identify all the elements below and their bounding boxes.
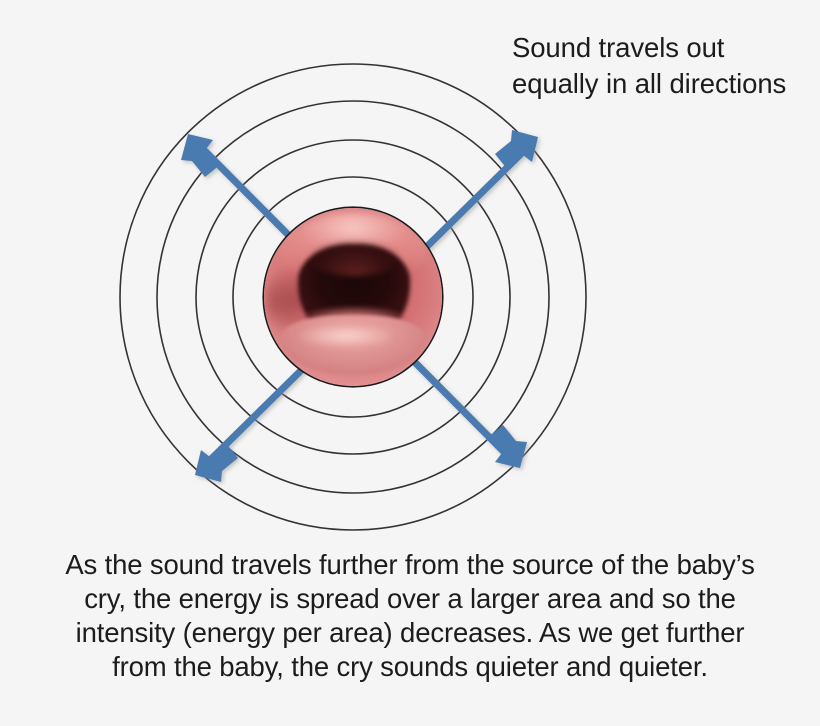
- sound-direction-caption-line-2: equally in all directions: [512, 66, 812, 102]
- arrowhead-up-left: [181, 134, 221, 177]
- explanation-paragraph: As the sound travels further from the so…: [0, 548, 820, 684]
- arrowhead-down-left: [195, 442, 238, 482]
- sound-direction-caption-line-1: Sound travels out: [512, 30, 812, 66]
- mouth-vignette: [264, 208, 442, 386]
- explanation-line-4: from the baby, the cry sounds quieter an…: [0, 650, 820, 684]
- baby-mouth-photo: [264, 208, 442, 386]
- explanation-line-1: As the sound travels further from the so…: [0, 548, 820, 582]
- arrowhead-down-right: [487, 425, 527, 468]
- explanation-line-2: cry, the energy is spread over a larger …: [0, 582, 820, 616]
- sound-direction-caption: Sound travels out equally in all directi…: [512, 30, 812, 102]
- diagram-page: Sound travels out equally in all directi…: [0, 0, 820, 726]
- explanation-line-3: intensity (energy per area) decreases. A…: [0, 616, 820, 650]
- arrowhead-up-right: [495, 130, 538, 170]
- sound-propagation-diagram: Sound travels out equally in all directi…: [0, 0, 820, 545]
